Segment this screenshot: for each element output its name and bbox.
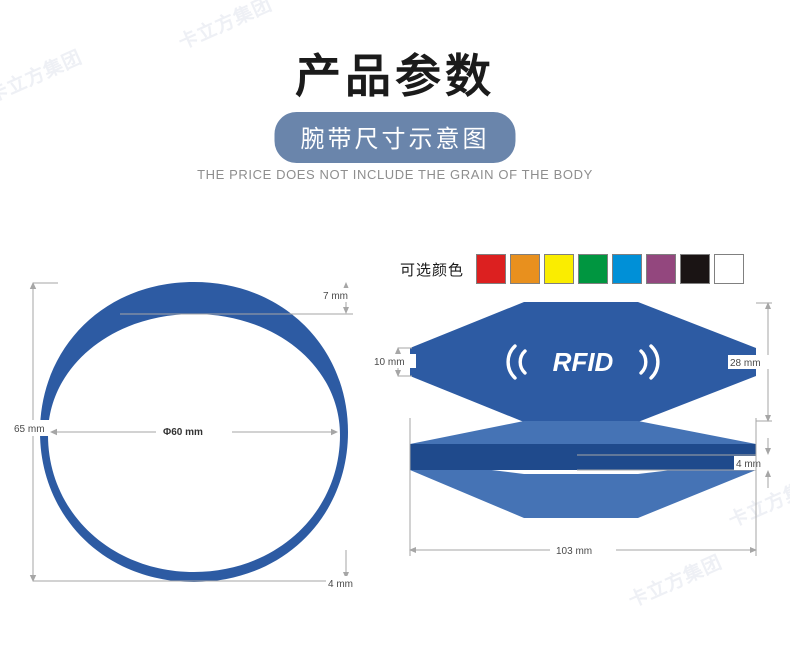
ring-diameter-label: Φ60 mm <box>163 427 203 438</box>
color-options: 可选颜色 <box>400 254 748 284</box>
band-length-label: 103 mm <box>556 546 592 557</box>
ring-height-label: 65 mm <box>14 424 45 435</box>
color-swatch-yellow[interactable] <box>544 254 574 284</box>
color-swatch-green[interactable] <box>578 254 608 284</box>
color-options-label: 可选颜色 <box>400 259 464 280</box>
ring-top-thickness-label: 7 mm <box>323 291 348 302</box>
ring-diagram: 65 mm Φ60 mm 7 mm 4 mm <box>8 272 380 592</box>
color-swatch-red[interactable] <box>476 254 506 284</box>
color-swatch-white[interactable] <box>714 254 744 284</box>
rfid-logo-text: RFID <box>553 347 614 377</box>
color-swatch-black[interactable] <box>680 254 710 284</box>
flat-diagram: RFID 10 mm 28 mm <box>372 288 790 573</box>
color-swatch-blue[interactable] <box>612 254 642 284</box>
color-swatch-purple[interactable] <box>646 254 676 284</box>
ring-bottom-thickness-label: 4 mm <box>328 579 353 590</box>
band-thickness-label: 4 mm <box>736 459 761 470</box>
strap-width-label: 10 mm <box>374 357 405 368</box>
subtitle-pill: 腕带尺寸示意图 <box>275 112 516 163</box>
english-note: THE PRICE DOES NOT INCLUDE THE GRAIN OF … <box>0 167 790 182</box>
center-width-label: 28 mm <box>730 358 761 369</box>
page-title: 产品参数 <box>0 40 790 106</box>
color-swatch-orange[interactable] <box>510 254 540 284</box>
